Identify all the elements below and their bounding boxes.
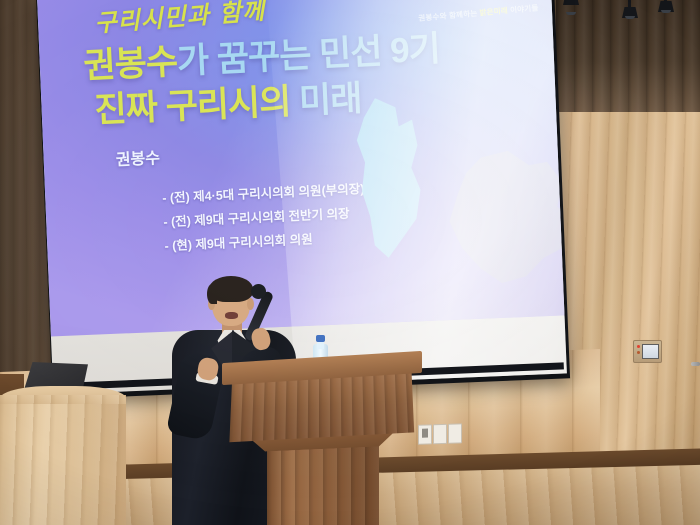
side-lectern bbox=[0, 395, 126, 525]
corner-badge-prefix: 권봉수와 함께하는 bbox=[418, 8, 480, 22]
wall-outlets[interactable] bbox=[418, 423, 466, 445]
wall-control-panel[interactable] bbox=[633, 340, 662, 363]
hair bbox=[209, 276, 253, 302]
podium-column bbox=[267, 445, 379, 525]
gyeonggi-province-map-icon bbox=[436, 149, 565, 303]
headline-line2-main: 진짜 구리시의 bbox=[94, 82, 300, 130]
status-led-icon bbox=[637, 351, 640, 354]
list-item: - (전) 제4·5대 구리시의회 의원(부의장) bbox=[162, 178, 365, 206]
corner-badge-suffix: 이야기들 bbox=[507, 3, 538, 15]
bottle-cap-icon bbox=[316, 335, 325, 342]
slide-bio-list: - (전) 제4·5대 구리시의회 의원(부의장) - (전) 제9대 구리시의… bbox=[122, 178, 367, 261]
slide-corner-badge: 권봉수와 함께하는 밝은미래 이야기들 bbox=[417, 2, 538, 24]
list-item: - (전) 제9대 구리시의회 전반기 의장 bbox=[163, 202, 366, 230]
panel-display bbox=[642, 344, 659, 359]
list-item: - (현) 제9대 구리시의회 의원 bbox=[164, 226, 367, 254]
slide-bio-name: 권봉수 bbox=[115, 144, 160, 170]
headline-line2-accent: 미래 bbox=[298, 79, 362, 121]
slide-headline-line2: 진짜 구리시의 미래 bbox=[93, 70, 362, 133]
power-led-icon bbox=[637, 345, 640, 348]
corner-badge-highlight: 밝은미래 bbox=[479, 6, 508, 17]
door-handle[interactable] bbox=[691, 362, 700, 366]
photo-scene: 구리시민과 함께 권봉수가 꿈꾸는 민선 9기 진짜 구리시의 미래 권봉수와 … bbox=[0, 0, 700, 525]
ear-right bbox=[247, 298, 254, 310]
wooden-podium bbox=[225, 357, 420, 525]
ceiling-spotlight-icon bbox=[563, 0, 579, 8]
mouth bbox=[225, 312, 238, 319]
